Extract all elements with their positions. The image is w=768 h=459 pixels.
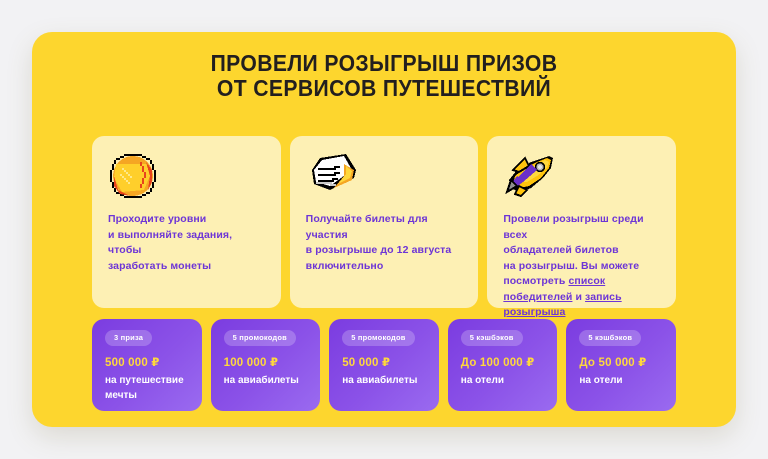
info-line-3: на розыгрыш. Вы можете <box>503 260 639 272</box>
yellow-panel: ПРОВЕЛИ РОЗЫГРЫШ ПРИЗОВ ОТ СЕРВИСОВ ПУТЕ… <box>32 32 736 427</box>
prize-description: на отели <box>579 374 664 389</box>
info-line-2: в розыгрыше до 12 августа <box>306 244 452 256</box>
info-card-draw: Провели розыгрыш среди всех обладателей … <box>487 136 676 308</box>
prize-card[interactable]: 5 промокодов 100 000 ₽ на авиабилеты <box>211 319 321 411</box>
info-card-tickets: Получайте билеты для участия в розыгрыше… <box>290 136 479 308</box>
prize-desc-line-1: на отели <box>461 375 504 386</box>
promo-banner: ПРОВЕЛИ РОЗЫГРЫШ ПРИЗОВ ОТ СЕРВИСОВ ПУТЕ… <box>0 0 768 459</box>
prize-cards-row: 3 приза 500 000 ₽ на путешествие мечты 5… <box>92 319 676 411</box>
title-line-1: ПРОВЕЛИ РОЗЫГРЫШ ПРИЗОВ <box>211 50 558 76</box>
prize-desc-line-1: на отели <box>579 375 622 386</box>
prize-desc-line-2: мечты <box>105 390 137 401</box>
prize-card[interactable]: 3 приза 500 000 ₽ на путешествие мечты <box>92 319 202 411</box>
info-card-levels: Проходите уровни и выполняйте задания, ч… <box>92 136 281 308</box>
prize-amount: До 50 000 ₽ <box>579 355 664 369</box>
prize-description: на авиабилеты <box>342 374 427 389</box>
tickets-icon <box>306 152 362 202</box>
info-card-text: Получайте билеты для участия в розыгрыше… <box>306 212 465 274</box>
info-line-2: и выполняйте задания, чтобы <box>108 229 232 257</box>
page-title: ПРОВЕЛИ РОЗЫГРЫШ ПРИЗОВ ОТ СЕРВИСОВ ПУТЕ… <box>60 51 708 101</box>
info-card-text: Проходите уровни и выполняйте задания, ч… <box>108 212 267 274</box>
coin-icon <box>108 152 164 202</box>
status-badge: 5 кэшбэков <box>461 330 523 346</box>
prize-description: на путешествие мечты <box>105 374 190 403</box>
title-line-2: ОТ СЕРВИСОВ ПУТЕШЕСТВИЙ <box>60 76 708 101</box>
prize-desc-line-1: на авиабилеты <box>224 375 299 386</box>
info-line-1: Проходите уровни <box>108 213 206 225</box>
status-badge: 3 приза <box>105 330 152 346</box>
prize-desc-line-1: на путешествие <box>105 375 184 386</box>
prize-amount: 500 000 ₽ <box>105 355 190 369</box>
info-line-3: включительно <box>306 260 384 272</box>
status-badge: 5 промокодов <box>342 330 414 346</box>
info-cards-row: Проходите уровни и выполняйте задания, ч… <box>92 136 676 308</box>
info-line-2: обладателей билетов <box>503 244 618 256</box>
info-card-text: Провели розыгрыш среди всех обладателей … <box>503 212 662 321</box>
prize-card[interactable]: 5 кэшбэков До 50 000 ₽ на отели <box>566 319 676 411</box>
prize-description: на отели <box>461 374 546 389</box>
prize-description: на авиабилеты <box>224 374 309 389</box>
info-line-1: Провели розыгрыш среди всех <box>503 213 643 241</box>
prize-card[interactable]: 5 кэшбэков До 100 000 ₽ на отели <box>448 319 558 411</box>
rocket-icon <box>503 152 559 202</box>
info-line-conjunction: и <box>572 291 585 303</box>
info-line-3: заработать монеты <box>108 260 211 272</box>
prize-amount: До 100 000 ₽ <box>461 355 546 369</box>
status-badge: 5 промокодов <box>224 330 296 346</box>
prize-amount: 50 000 ₽ <box>342 355 427 369</box>
status-badge: 5 кэшбэков <box>579 330 641 346</box>
info-line-4-prefix: посмотреть <box>503 275 568 287</box>
prize-amount: 100 000 ₽ <box>224 355 309 369</box>
info-line-1: Получайте билеты для участия <box>306 213 428 241</box>
prize-card[interactable]: 5 промокодов 50 000 ₽ на авиабилеты <box>329 319 439 411</box>
prize-desc-line-1: на авиабилеты <box>342 375 417 386</box>
